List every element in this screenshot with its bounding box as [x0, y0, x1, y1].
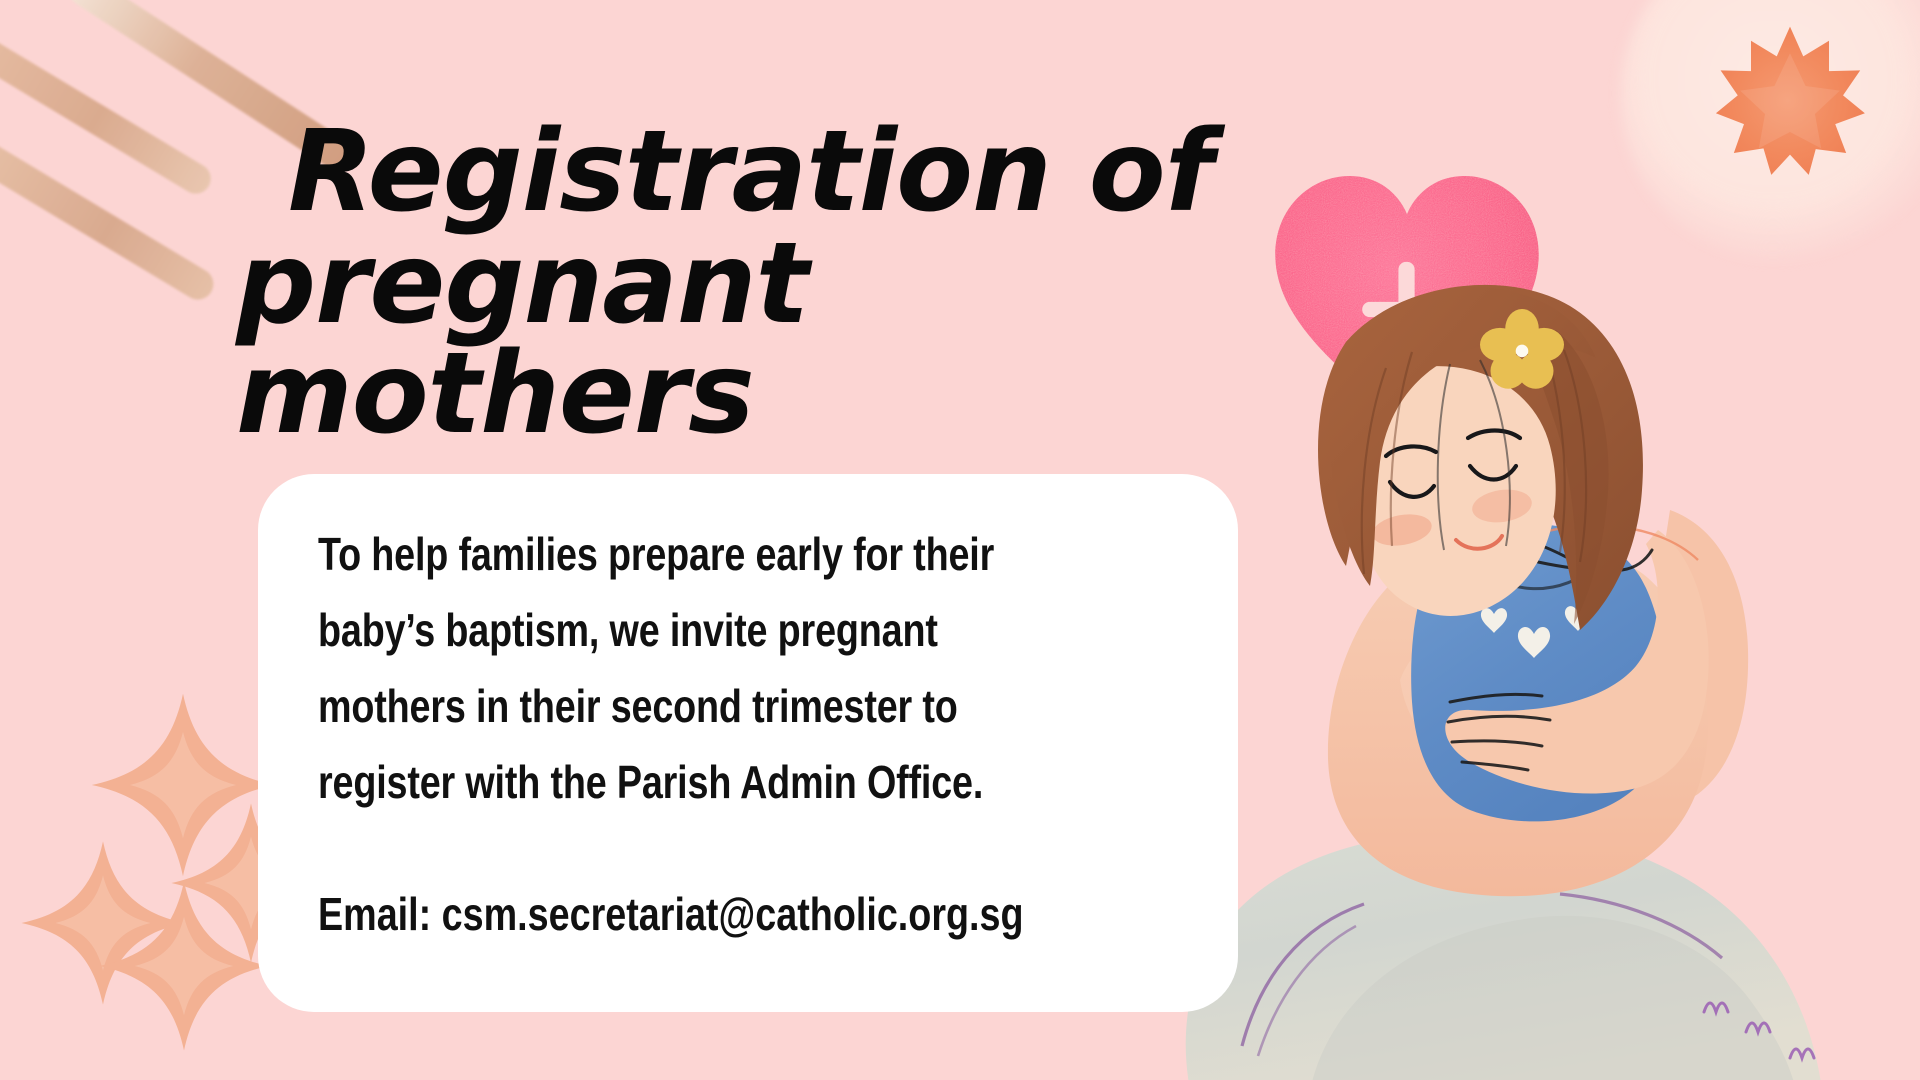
info-card: To help families prepare early for their…	[258, 474, 1238, 1012]
body-text-line: register with the Parish Admin Office.	[318, 744, 1025, 820]
paragraph-spacer	[318, 820, 1180, 886]
page-title: Registration of pregnant mothers	[236, 118, 1276, 449]
body-text-line: To help families prepare early for their	[318, 516, 1025, 592]
poster-canvas: Registration of pregnant mothers To help…	[0, 0, 1920, 1080]
sunburst-star-icon	[1702, 22, 1878, 178]
page-title-line-1: Registration of	[236, 118, 1276, 228]
email-contact-line[interactable]: Email: csm.secretariat@catholic.org.sg	[318, 886, 1025, 942]
body-text-line: mothers in their second trimester to	[318, 668, 1025, 744]
page-title-line-2: pregnant mothers	[236, 230, 1276, 450]
body-text-line: baby’s baptism, we invite pregnant	[318, 592, 1025, 668]
